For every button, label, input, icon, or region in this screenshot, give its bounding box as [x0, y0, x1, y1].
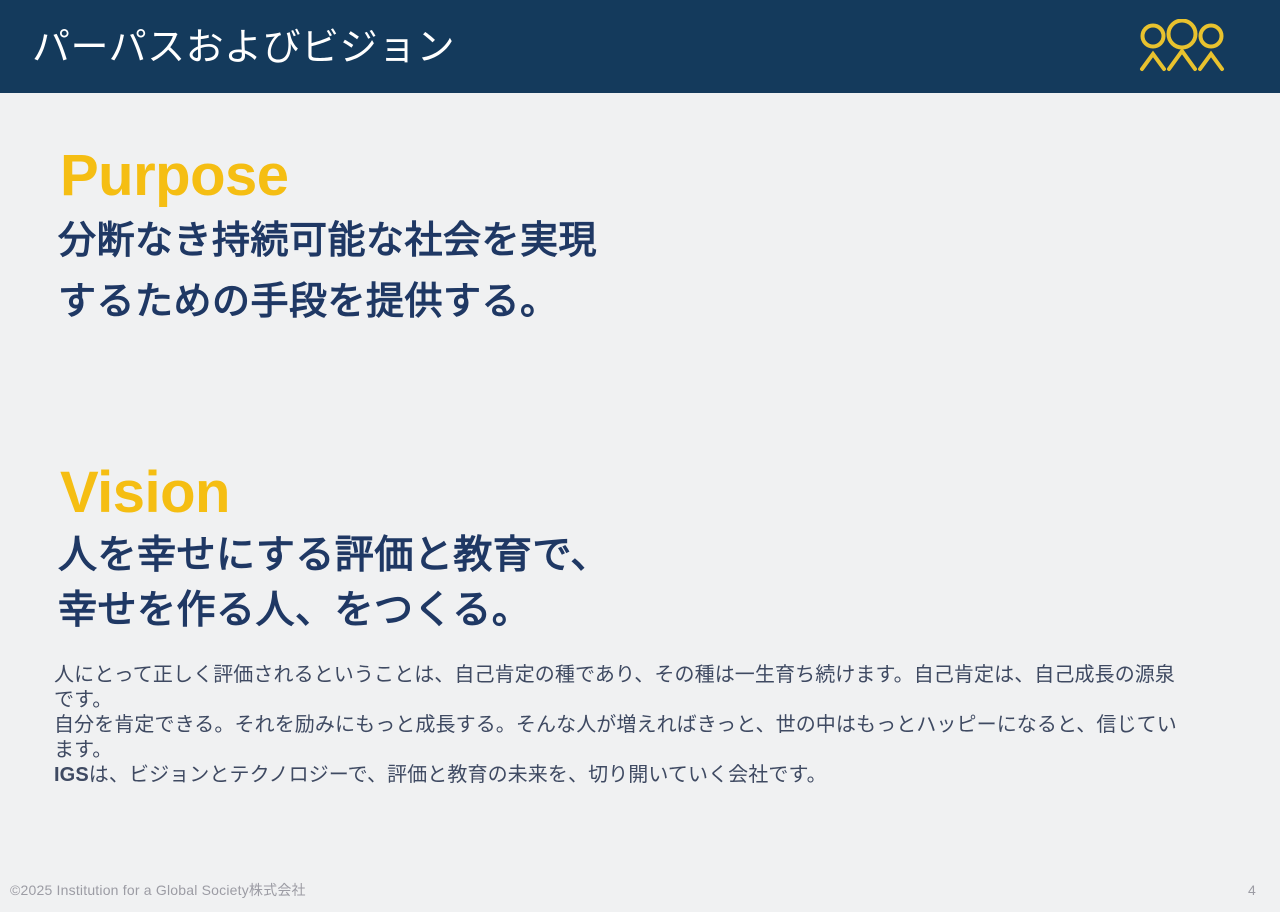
purpose-statement: 分断なき持続可能な社会を実現 するための手段を提供する。 [58, 211, 597, 334]
supporting-line-3-rest: は、ビジョンとテクノロジーで、評価と教育の未来を、切り開いていく会社です。 [89, 764, 827, 786]
purpose-statement-line-1: 分断なき持続可能な社会を実現 [58, 211, 597, 273]
vision-block: Vision 人を幸せにする評価と教育で、 幸せを作る人、をつくる。 [58, 463, 610, 639]
vision-statement: 人を幸せにする評価と教育で、 幸せを作る人、をつくる。 [58, 528, 610, 639]
purpose-statement-line-2: するための手段を提供する。 [58, 272, 597, 334]
supporting-line-1: 人にとって正しく評価されるということは、自己肯定の種であり、その種は一生育ち続け… [54, 663, 1194, 713]
slide-header: パーパスおよびビジョン [0, 0, 1280, 93]
vision-statement-line-1: 人を幸せにする評価と教育で、 [58, 528, 610, 583]
slide-body: Purpose 分断なき持続可能な社会を実現 するための手段を提供する。 Vis… [0, 93, 1280, 912]
slide-footer: ©2025 Institution for a Global Society株式… [0, 868, 1280, 912]
copyright-notice: ©2025 Institution for a Global Society株式… [10, 880, 306, 900]
page-title: パーパスおよびビジョン [32, 29, 455, 67]
supporting-line-3: IGSは、ビジョンとテクノロジーで、評価と教育の未来を、切り開いていく会社です。 [54, 763, 1194, 788]
three-people-logo-icon [1136, 19, 1228, 75]
slide-root: パーパスおよびビジョン Purpose 分断なき持続可能な社会を実現 するための… [0, 0, 1280, 912]
purpose-heading: Purpose [60, 146, 597, 207]
igs-abbreviation: IGS [54, 764, 89, 786]
page-number: 4 [1248, 882, 1256, 898]
supporting-paragraph: 人にとって正しく評価されるということは、自己肯定の種であり、その種は一生育ち続け… [54, 663, 1194, 788]
vision-statement-line-2: 幸せを作る人、をつくる。 [58, 583, 610, 638]
supporting-line-2: 自分を肯定できる。それを励みにもっと成長する。そんな人が増えればきっと、世の中は… [54, 713, 1194, 763]
purpose-block: Purpose 分断なき持続可能な社会を実現 するための手段を提供する。 [58, 146, 597, 334]
vision-heading: Vision [60, 463, 610, 524]
